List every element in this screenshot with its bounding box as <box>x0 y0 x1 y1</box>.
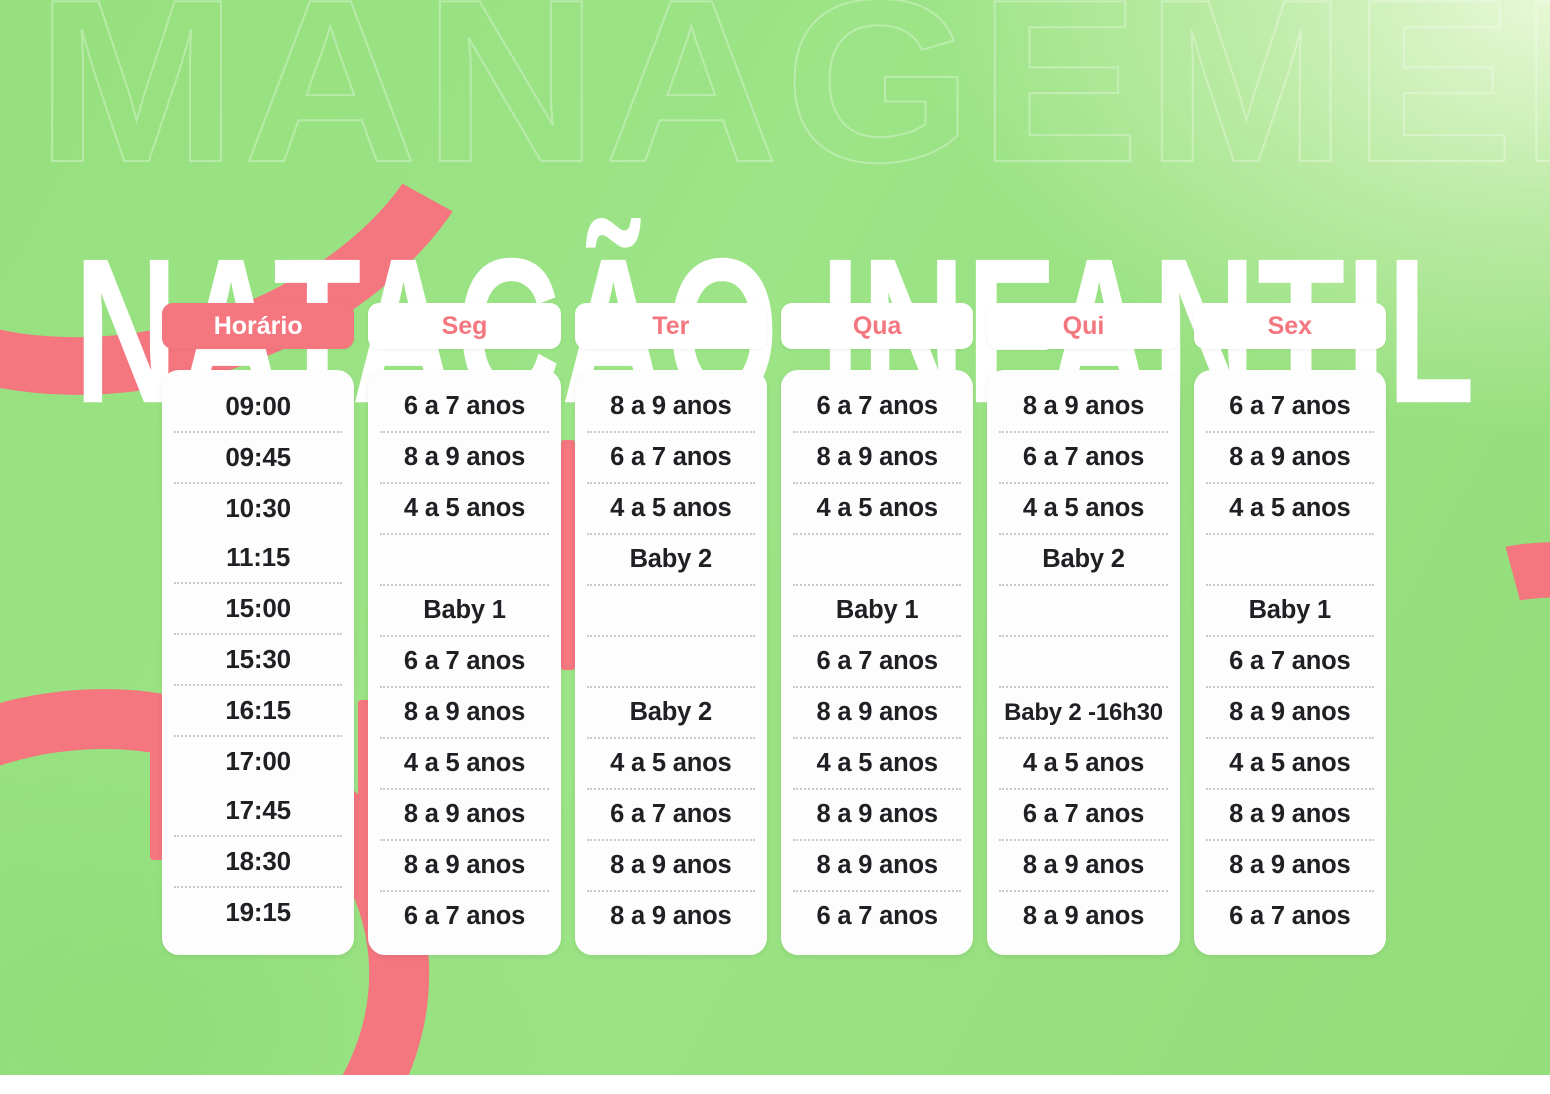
class-cell: 6 a 7 anos <box>999 433 1167 484</box>
class-cell: Baby 2 -16h30 <box>999 688 1167 739</box>
time-cell: 16:15 <box>174 686 342 737</box>
column-card-horario: 09:0009:4510:3011:1515:0015:3016:1517:00… <box>162 370 354 955</box>
class-cell: Baby 2 <box>587 688 755 739</box>
class-cell-empty <box>587 637 755 688</box>
class-cell: 4 a 5 anos <box>793 739 961 790</box>
class-cell: 6 a 7 anos <box>793 637 961 688</box>
class-cell: 8 a 9 anos <box>1206 688 1374 739</box>
time-cell: 11:15 <box>174 533 342 584</box>
class-cell: 6 a 7 anos <box>793 382 961 433</box>
class-cell: Baby 2 <box>999 535 1167 586</box>
class-cell: 4 a 5 anos <box>587 739 755 790</box>
class-cell: 8 a 9 anos <box>380 790 548 841</box>
time-cell: 17:00 <box>174 737 342 786</box>
class-cell: 8 a 9 anos <box>1206 790 1374 841</box>
class-cell: 8 a 9 anos <box>587 841 755 892</box>
class-cell: 6 a 7 anos <box>380 892 548 941</box>
column-card-ter: 8 a 9 anos6 a 7 anos4 a 5 anosBaby 2Baby… <box>575 370 767 955</box>
time-cell: 18:30 <box>174 837 342 888</box>
class-cell: 4 a 5 anos <box>587 484 755 535</box>
class-cell-empty <box>1206 535 1374 586</box>
class-cell: 8 a 9 anos <box>587 382 755 433</box>
class-cell: 8 a 9 anos <box>793 688 961 739</box>
class-cell: 4 a 5 anos <box>380 739 548 790</box>
class-cell: Baby 1 <box>793 586 961 637</box>
class-cell: 6 a 7 anos <box>587 433 755 484</box>
class-cell: 6 a 7 anos <box>1206 892 1374 941</box>
class-cell: 6 a 7 anos <box>1206 382 1374 433</box>
class-cell: Baby 1 <box>380 586 548 637</box>
class-cell: Baby 1 <box>1206 586 1374 637</box>
time-cell: 09:00 <box>174 382 342 433</box>
time-cell: 10:30 <box>174 484 342 533</box>
time-cell: 09:45 <box>174 433 342 484</box>
class-cell: 4 a 5 anos <box>793 484 961 535</box>
column-header-sex[interactable]: Sex <box>1194 303 1386 349</box>
class-cell: 6 a 7 anos <box>1206 637 1374 688</box>
class-cell: 6 a 7 anos <box>587 790 755 841</box>
class-cell: 8 a 9 anos <box>1206 841 1374 892</box>
column-header-qui[interactable]: Qui <box>987 303 1179 349</box>
class-cell: 6 a 7 anos <box>380 382 548 433</box>
class-cell-empty <box>999 586 1167 637</box>
class-cell: 8 a 9 anos <box>380 841 548 892</box>
time-cell: 19:15 <box>174 888 342 937</box>
class-cell: 4 a 5 anos <box>1206 484 1374 535</box>
class-cell: 8 a 9 anos <box>380 433 548 484</box>
schedule-poster: MANAGEMENT NATAÇÃO INFANTIL HorárioSegTe… <box>0 0 1550 1094</box>
class-cell: 8 a 9 anos <box>793 841 961 892</box>
column-header-horrio[interactable]: Horário <box>162 303 354 349</box>
class-cell-empty <box>793 535 961 586</box>
column-header-seg[interactable]: Seg <box>368 303 560 349</box>
time-cell: 17:45 <box>174 786 342 837</box>
column-header-ter[interactable]: Ter <box>575 303 767 349</box>
column-card-sex: 6 a 7 anos8 a 9 anos4 a 5 anosBaby 16 a … <box>1194 370 1386 955</box>
column-card-qua: 6 a 7 anos8 a 9 anos4 a 5 anosBaby 16 a … <box>781 370 973 955</box>
class-cell: 8 a 9 anos <box>1206 433 1374 484</box>
time-cell: 15:00 <box>174 584 342 635</box>
class-cell: 6 a 7 anos <box>380 637 548 688</box>
class-cell: 8 a 9 anos <box>793 433 961 484</box>
table-body-row: 09:0009:4510:3011:1515:0015:3016:1517:00… <box>162 370 1386 955</box>
class-cell-empty <box>999 637 1167 688</box>
class-cell: Baby 2 <box>587 535 755 586</box>
class-cell-empty <box>587 586 755 637</box>
table-header-row: HorárioSegTerQuaQuiSex <box>162 303 1386 349</box>
bottom-white-strip <box>0 1075 1550 1094</box>
class-cell: 8 a 9 anos <box>587 892 755 941</box>
class-cell: 8 a 9 anos <box>999 841 1167 892</box>
column-card-qui: 8 a 9 anos6 a 7 anos4 a 5 anosBaby 2Baby… <box>987 370 1179 955</box>
class-cell: 8 a 9 anos <box>999 382 1167 433</box>
column-card-seg: 6 a 7 anos8 a 9 anos4 a 5 anosBaby 16 a … <box>368 370 560 955</box>
schedule-table: HorárioSegTerQuaQuiSex 09:0009:4510:3011… <box>162 303 1386 955</box>
class-cell: 8 a 9 anos <box>999 892 1167 941</box>
class-cell-empty <box>380 535 548 586</box>
class-cell: 8 a 9 anos <box>380 688 548 739</box>
class-cell: 4 a 5 anos <box>380 484 548 535</box>
class-cell: 8 a 9 anos <box>793 790 961 841</box>
class-cell: 4 a 5 anos <box>999 484 1167 535</box>
column-header-qua[interactable]: Qua <box>781 303 973 349</box>
class-cell: 4 a 5 anos <box>999 739 1167 790</box>
time-cell: 15:30 <box>174 635 342 686</box>
class-cell: 6 a 7 anos <box>999 790 1167 841</box>
class-cell: 4 a 5 anos <box>1206 739 1374 790</box>
class-cell: 6 a 7 anos <box>793 892 961 941</box>
